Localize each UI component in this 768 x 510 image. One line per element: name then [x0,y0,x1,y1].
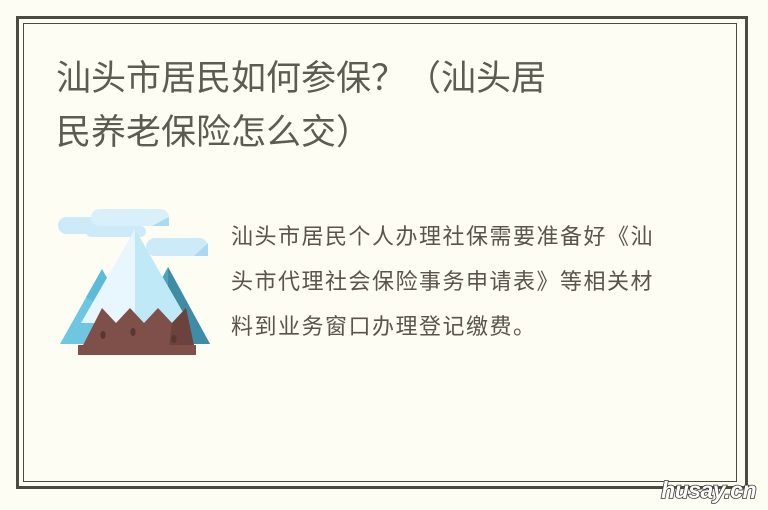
snow-mountain-icon [56,205,214,363]
article-card: 汕头市居民如何参保？（汕头居 民养老保险怎么交） [0,0,768,510]
watermark-label: husay.cn [661,477,756,504]
article-body-text: 汕头市居民个人办理社保需要准备好《汕头市代理社会保险事务申请表》等相关材料到业务… [231,215,661,350]
page-title: 汕头市居民如何参保？（汕头居 民养老保险怎么交） [56,52,656,160]
